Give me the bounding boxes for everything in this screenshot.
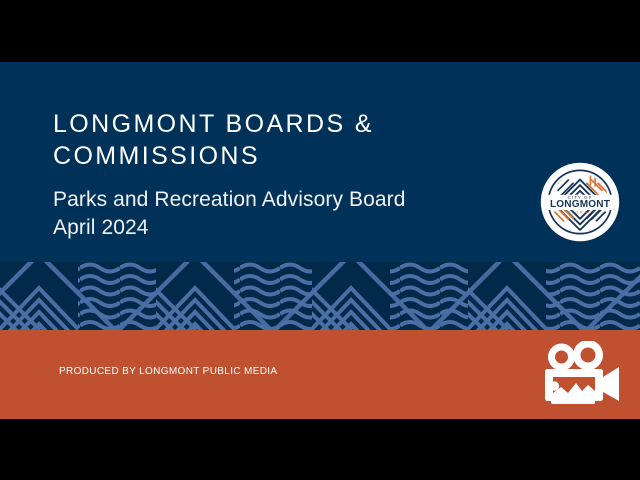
hero-panel: LONGMONT BOARDS & COMMISSIONS Parks and … [0,62,640,262]
subtitle-block: Parks and Recreation Advisory Board Apri… [53,186,523,241]
footer-bar: PRODUCED BY LONGMONT PUBLIC MEDIA [0,330,640,419]
letterbox-bottom [0,419,640,480]
letterbox-top [0,0,640,62]
subtitle-date: April 2024 [53,214,523,242]
subtitle-board-name: Parks and Recreation Advisory Board [53,186,523,214]
seal-line-bottom: COLORADO [563,210,597,214]
title-block: LONGMONT BOARDS & COMMISSIONS Parks and … [53,108,523,241]
seal-line-main: LONGMONT [550,199,611,210]
producer-credit-text: PRODUCED BY LONGMONT PUBLIC MEDIA [59,366,277,377]
decorative-pattern-band [0,262,640,330]
movie-camera-icon [543,341,621,407]
city-seal-icon: CITY OF LONGMONT COLORADO [540,162,620,242]
video-slide: LONGMONT BOARDS & COMMISSIONS Parks and … [0,0,640,480]
page-title: LONGMONT BOARDS & COMMISSIONS [53,108,523,172]
